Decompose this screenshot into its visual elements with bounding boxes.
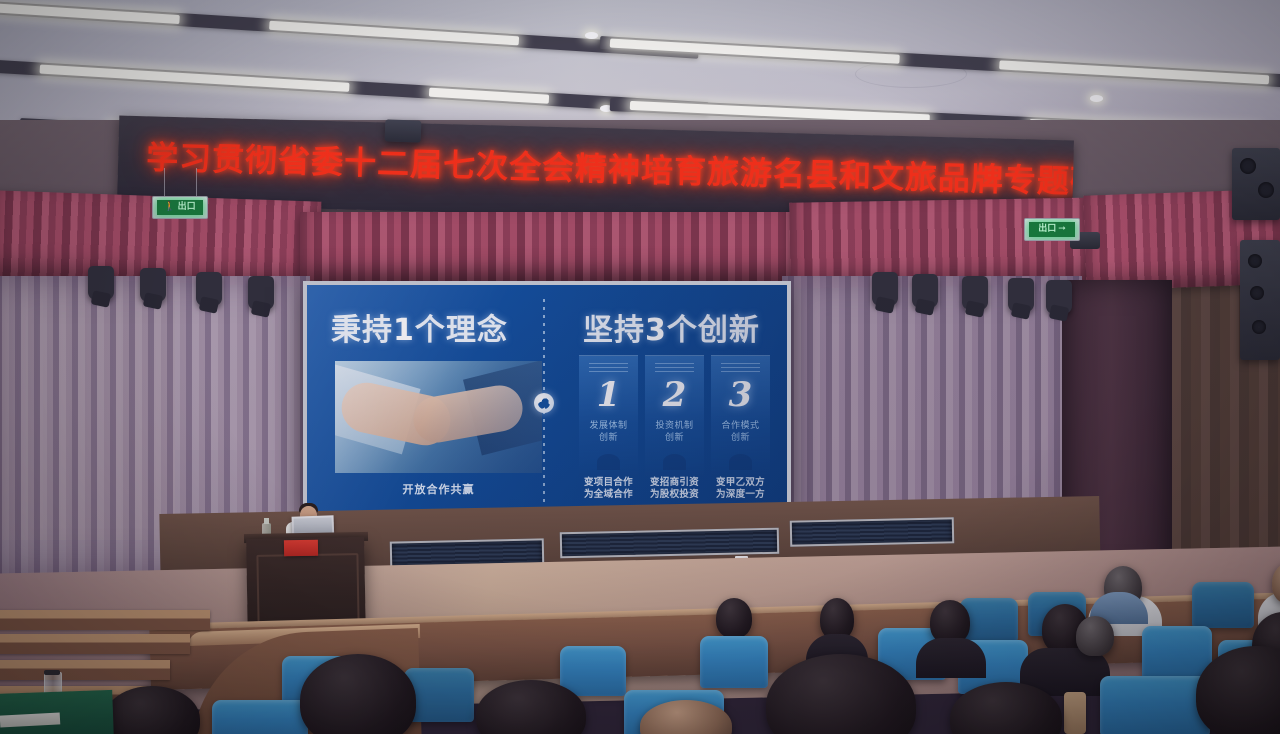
slide-heading-left-prefix: 秉持	[331, 313, 393, 348]
exit-sign-left: 🚶 出口	[152, 196, 208, 219]
auditorium-seat	[212, 700, 308, 734]
exit-sign-wire	[164, 168, 165, 196]
ceiling-downlight	[585, 32, 598, 39]
auditorium-seat	[1100, 676, 1210, 734]
stage-step	[0, 634, 190, 654]
arrow-right-icon: ➞	[1058, 225, 1066, 234]
exit-sign-panel: 出口 ➞	[1029, 222, 1075, 237]
exit-sign-right: 出口 ➞	[1024, 218, 1080, 241]
valance-curtain-center	[300, 212, 800, 282]
slide-heading-left-number: 1	[393, 313, 415, 348]
stage-step	[0, 610, 210, 630]
slide-heading-right-prefix: 坚持	[583, 313, 645, 348]
card-shadow-blob	[729, 454, 752, 470]
slide-heading-left: 秉持1个理念	[331, 305, 508, 349]
card-texture-lines	[655, 363, 694, 375]
card-texture-lines	[721, 363, 760, 375]
seat-armrest	[1064, 692, 1086, 734]
running-man-icon: 🚶	[164, 203, 175, 212]
loudspeaker-cluster	[1232, 148, 1280, 220]
exit-sign-panel: 🚶 出口	[157, 200, 203, 215]
caption-line1: 变甲乙双方	[711, 477, 770, 489]
stage-light-fixture	[1046, 280, 1072, 314]
acoustic-grille	[560, 528, 779, 559]
card-number: 2	[645, 378, 704, 412]
photo-glare	[335, 361, 542, 473]
card-number: 3	[711, 378, 770, 412]
card-texture-lines	[589, 363, 628, 375]
innovation-card: 3 合作模式 创新	[711, 355, 770, 476]
caption-line1: 变项目合作	[579, 477, 638, 489]
slide-heading-right: 坚持3个创新	[583, 305, 760, 349]
auditorium-seat	[1192, 582, 1254, 628]
innovation-caption: 变项目合作 为全域合作	[579, 477, 638, 501]
card-shadow-blob	[597, 454, 620, 470]
auditorium-seat	[700, 636, 768, 688]
podium-nameplate	[284, 540, 318, 557]
handshake-photo	[335, 361, 542, 473]
caption-line2: 为全域合作	[579, 489, 638, 501]
stage-light-fixture	[140, 268, 166, 302]
card-label-line1: 合作模式	[711, 420, 770, 432]
caption-line2: 为股权投资	[645, 489, 704, 501]
stage-light-fixture	[912, 274, 938, 308]
card-number: 1	[579, 378, 638, 412]
exit-sign-label: 出口	[178, 203, 196, 212]
card-label-line2: 创新	[711, 432, 770, 444]
exit-sign-wire	[196, 168, 197, 196]
slide-heading-left-suffix: 个理念	[415, 313, 508, 348]
stage-light-fixture	[1008, 278, 1034, 312]
card-label-line1: 投资机制	[645, 420, 704, 432]
ceiling-downlight	[1090, 95, 1103, 102]
caption-line1: 变招商引资	[645, 477, 704, 489]
card-label-line1: 发展体制	[579, 420, 638, 432]
audience-head	[1076, 616, 1114, 656]
innovation-caption: 变甲乙双方 为深度一方	[711, 477, 770, 501]
globe-icon	[534, 393, 554, 413]
card-shadow-blob	[663, 454, 686, 470]
innovation-caption: 变招商引资 为股权投资	[645, 477, 704, 501]
auditorium-seat	[560, 646, 626, 696]
stage-light-fixture	[872, 272, 898, 306]
card-label: 投资机制 创新	[645, 420, 704, 444]
loudspeaker-line-array	[1240, 240, 1280, 360]
card-label: 合作模式 创新	[711, 420, 770, 444]
exit-sign-label: 出口	[1038, 225, 1056, 234]
projection-screen: 秉持1个理念 坚持3个创新 开放合作共赢 1 发展体制 创新	[307, 285, 787, 513]
slide-heading-right-suffix: 个创新	[667, 313, 760, 348]
audience-shoulders	[916, 638, 986, 678]
innovation-card: 2 投资机制 创新	[645, 355, 704, 476]
card-label: 发展体制 创新	[579, 420, 638, 444]
card-label-line2: 创新	[579, 432, 638, 444]
stage-light-fixture	[248, 276, 274, 310]
innovation-caption-list: 变项目合作 为全域合作 变招商引资 为股权投资 变甲乙双方 为深度一方	[579, 477, 771, 501]
audience-head	[716, 598, 752, 638]
stage-step	[0, 660, 170, 680]
acoustic-grille	[790, 517, 955, 546]
photo-caption: 开放合作共赢	[335, 481, 542, 497]
stage-light-fixture	[196, 272, 222, 306]
slide-heading-right-number: 3	[645, 313, 667, 348]
card-label-line2: 创新	[645, 432, 704, 444]
projection-screen-frame: 秉持1个理念 坚持3个创新 开放合作共赢 1 发展体制 创新	[303, 281, 791, 517]
innovation-card-list: 1 发展体制 创新 2 投资机制 创新	[579, 355, 771, 476]
stage-light-fixture	[88, 266, 114, 300]
innovation-card: 1 发展体制 创新	[579, 355, 638, 476]
led-banner-text: 学习贯彻省委十二届七次全会精神培育旅游名县和文旅品牌专题研讨班	[146, 132, 1067, 202]
caption-line2: 为深度一方	[711, 489, 770, 501]
auditorium-photo: 学习贯彻省委十二届七次全会精神培育旅游名县和文旅品牌专题研讨班 🚶 出口	[0, 0, 1280, 734]
ceiling-speaker	[385, 119, 422, 142]
stage-light-fixture	[962, 276, 988, 310]
